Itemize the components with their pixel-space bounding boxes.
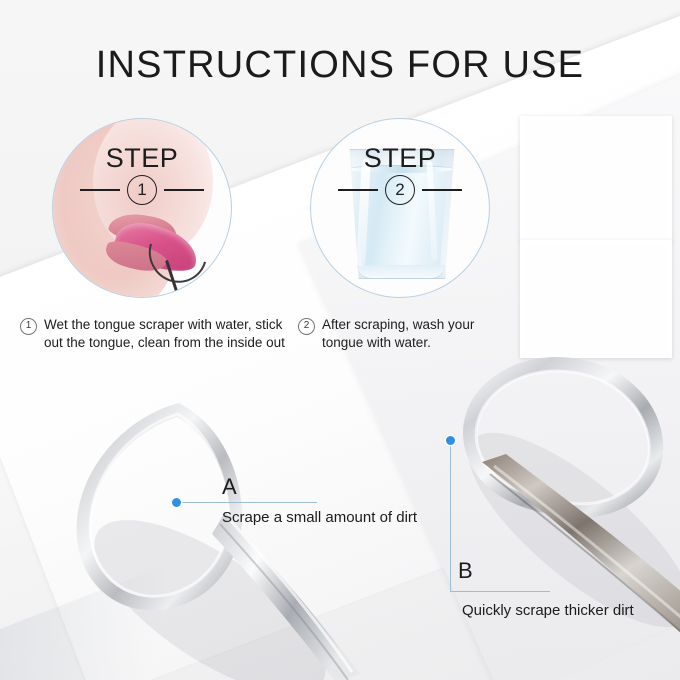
step-2-graphic: STEP 2 [310, 118, 490, 298]
step-1-graphic: STEP 1 [52, 118, 232, 298]
step-2-caption: 2 After scraping, wash your tongue with … [298, 316, 513, 351]
tongue-after-photo [520, 240, 672, 358]
step-1-badge: 1 [20, 318, 37, 335]
step-2-caption-text: After scraping, wash your tongue with wa… [322, 316, 513, 351]
tongue-before-photo [520, 116, 672, 242]
marker-b-dot [446, 436, 455, 445]
rule-right-icon [164, 189, 204, 191]
marker-a-letter: A [222, 474, 237, 500]
marker-a-dot [172, 498, 181, 507]
step-1-caption-text: Wet the tongue scraper with water, stick… [44, 316, 290, 351]
step-1-number-row: 1 [53, 173, 231, 207]
marker-b-caption: Quickly scrape thicker dirt [462, 602, 634, 619]
step-1-label: STEP [53, 143, 231, 174]
rule-left-icon [80, 189, 120, 191]
tongue-scraper-product-a [60, 392, 390, 680]
step-1-number: 1 [127, 175, 157, 205]
step-2-number: 2 [385, 175, 415, 205]
rule-right-icon [422, 189, 462, 191]
step-2-number-row: 2 [311, 173, 489, 207]
marker-a-leader-line [177, 502, 317, 503]
tongue-photo-inner [523, 243, 669, 355]
marker-b-letter: B [458, 558, 473, 584]
rule-left-icon [338, 189, 378, 191]
marker-b-leader-line-vertical [450, 440, 451, 592]
page-title: INSTRUCTIONS FOR USE [0, 44, 680, 87]
tongue-papillae [523, 243, 669, 355]
tongue-papillae [523, 119, 669, 239]
step-1-caption: 1 Wet the tongue scraper with water, sti… [20, 316, 290, 351]
marker-b-leader-line-horizontal [450, 591, 550, 592]
step-2-badge: 2 [298, 318, 315, 335]
glass-base [357, 265, 445, 279]
instructions-image: INSTRUCTIONS FOR USE STEP 1 STEP 2 1 [0, 0, 680, 680]
step-2-label: STEP [311, 143, 489, 174]
marker-a-caption: Scrape a small amount of dirt [222, 509, 417, 526]
tongue-photo-inner [523, 119, 669, 239]
